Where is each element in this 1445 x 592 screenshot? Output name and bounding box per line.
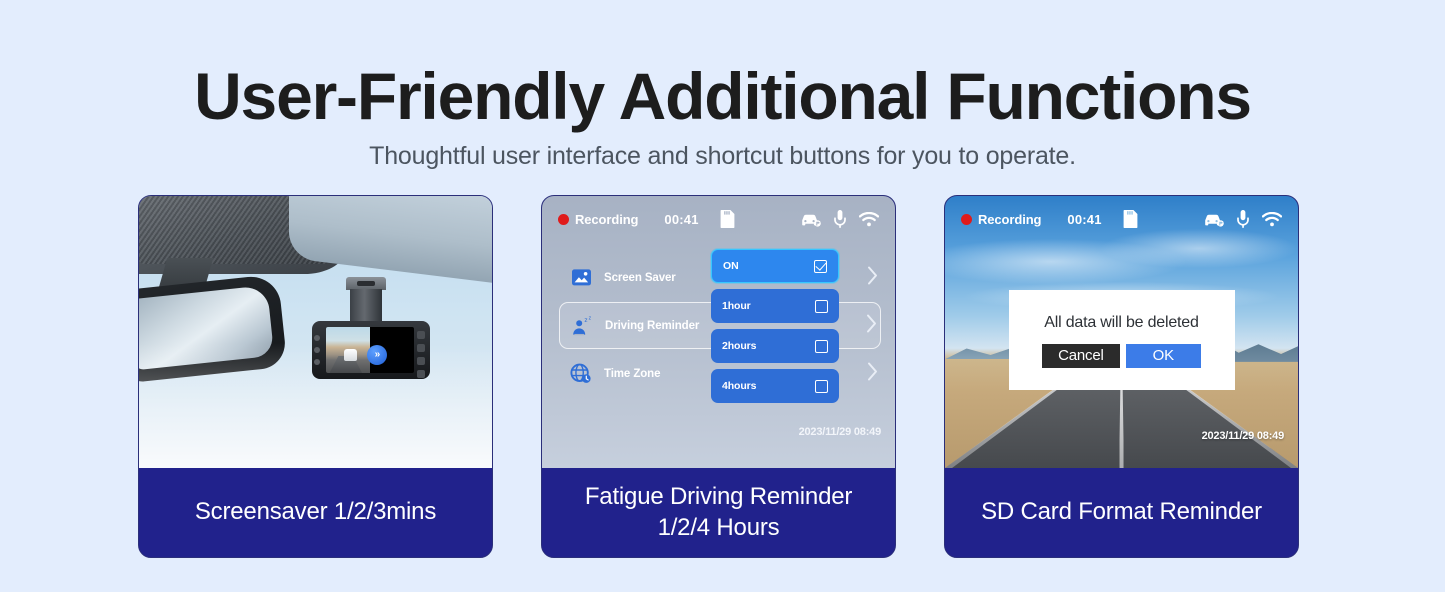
card-caption-text: Fatigue Driving Reminder 1/2/4 Hours <box>585 482 852 543</box>
dashcam-left-buttons <box>314 335 320 365</box>
option-2hours[interactable]: 2hours <box>711 329 839 363</box>
page-root: User-Friendly Additional Functions Thoug… <box>0 0 1445 592</box>
recording-elapsed: 00:41 <box>664 212 698 227</box>
menu-item-label: Screen Saver <box>604 272 676 284</box>
feature-card-row: » Screensaver 1/2/3mins Recording 0 <box>138 195 1300 558</box>
chevron-right-icon[interactable] <box>866 361 879 386</box>
microphone-icon <box>834 210 846 228</box>
sd-card-icon <box>1123 210 1138 228</box>
cancel-button[interactable]: Cancel <box>1042 344 1120 368</box>
dashcam-preview-road <box>326 327 370 373</box>
dashcam-mount-neck <box>350 289 382 325</box>
dashcam-device: » <box>306 277 434 367</box>
chevron-right-icon[interactable] <box>865 313 878 338</box>
wifi-icon <box>859 212 879 227</box>
card-caption-sd-format: SD Card Format Reminder <box>945 468 1298 557</box>
dashcam-side-buttons <box>417 331 425 378</box>
card-caption-text: Screensaver 1/2/3mins <box>195 497 436 528</box>
card-caption-line1: Fatigue Driving Reminder <box>585 483 852 510</box>
feature-card-fatigue-reminder[interactable]: Recording 00:41 <box>541 195 896 558</box>
wifi-icon <box>1262 212 1282 227</box>
option-label: 4hours <box>722 380 756 392</box>
osd-status-bar: Recording 00:41 <box>945 208 1298 230</box>
card-caption-line2: 1/2/4 Hours <box>658 514 780 541</box>
checkbox-checked-icon[interactable] <box>814 260 827 273</box>
svg-text:z: z <box>588 316 591 322</box>
chevron-right-icon[interactable] <box>866 265 879 290</box>
option-4hours[interactable]: 4hours <box>711 369 839 403</box>
fatigue-reminder-screen: Recording 00:41 <box>542 196 895 468</box>
preview-car <box>344 349 357 361</box>
page-title: User-Friendly Additional Functions <box>0 62 1445 131</box>
recording-label: Recording <box>575 212 638 227</box>
recording-elapsed: 00:41 <box>1067 212 1101 227</box>
option-label: ON <box>723 260 739 272</box>
osd-timestamp: 2023/11/29 08:49 <box>1202 430 1284 442</box>
svg-text:z: z <box>584 317 587 324</box>
dashcam-screen: » <box>326 327 414 373</box>
dialog-button-row: Cancel OK <box>1023 344 1221 368</box>
osd-icon-group <box>1123 210 1282 228</box>
sleepy-driver-icon: zz <box>570 314 594 338</box>
osd-icon-group <box>720 210 879 228</box>
recording-dot-icon <box>961 214 972 225</box>
recording-dot-icon <box>558 214 569 225</box>
menu-item-label: Time Zone <box>604 368 660 380</box>
checkbox-icon[interactable] <box>815 340 828 353</box>
reminder-option-list: ON 1hour 2hours 4hours <box>711 249 839 409</box>
dialog-message: All data will be deleted <box>1023 314 1221 332</box>
parking-monitor-icon <box>800 211 821 227</box>
option-label: 2hours <box>722 340 756 352</box>
parking-monitor-icon <box>1203 211 1224 227</box>
option-label: 1hour <box>722 300 751 312</box>
format-confirm-dialog: All data will be deleted Cancel OK <box>1009 290 1235 390</box>
recording-label: Recording <box>978 212 1041 227</box>
feature-card-screensaver[interactable]: » Screensaver 1/2/3mins <box>138 195 493 558</box>
option-1hour[interactable]: 1hour <box>711 289 839 323</box>
globe-clock-icon <box>569 362 593 386</box>
dashcam-body: » <box>312 321 430 379</box>
sd-format-screen: Recording 00:41 <box>945 196 1298 468</box>
osd-timestamp: 2023/11/29 08:49 <box>799 426 881 438</box>
sd-card-icon <box>720 210 735 228</box>
checkbox-icon[interactable] <box>815 380 828 393</box>
screensaver-chevron-badge: » <box>367 345 387 365</box>
sun-visor <box>289 196 492 286</box>
screensaver-photo: » <box>139 196 492 468</box>
ok-button[interactable]: OK <box>1126 344 1201 368</box>
card-caption-text: SD Card Format Reminder <box>981 497 1262 528</box>
card-caption-fatigue-reminder: Fatigue Driving Reminder 1/2/4 Hours <box>542 468 895 557</box>
card-caption-screensaver: Screensaver 1/2/3mins <box>139 468 492 557</box>
option-on[interactable]: ON <box>711 249 839 283</box>
feature-card-sd-format[interactable]: Recording 00:41 <box>944 195 1299 558</box>
mirror-scene: » <box>139 196 492 468</box>
page-subtitle: Thoughtful user interface and shortcut b… <box>0 142 1445 171</box>
microphone-icon <box>1237 210 1249 228</box>
osd-status-bar: Recording 00:41 <box>542 208 895 230</box>
image-icon <box>569 266 593 290</box>
menu-item-label: Driving Reminder <box>605 320 699 332</box>
checkbox-icon[interactable] <box>815 300 828 313</box>
heading-block: User-Friendly Additional Functions Thoug… <box>0 62 1445 171</box>
